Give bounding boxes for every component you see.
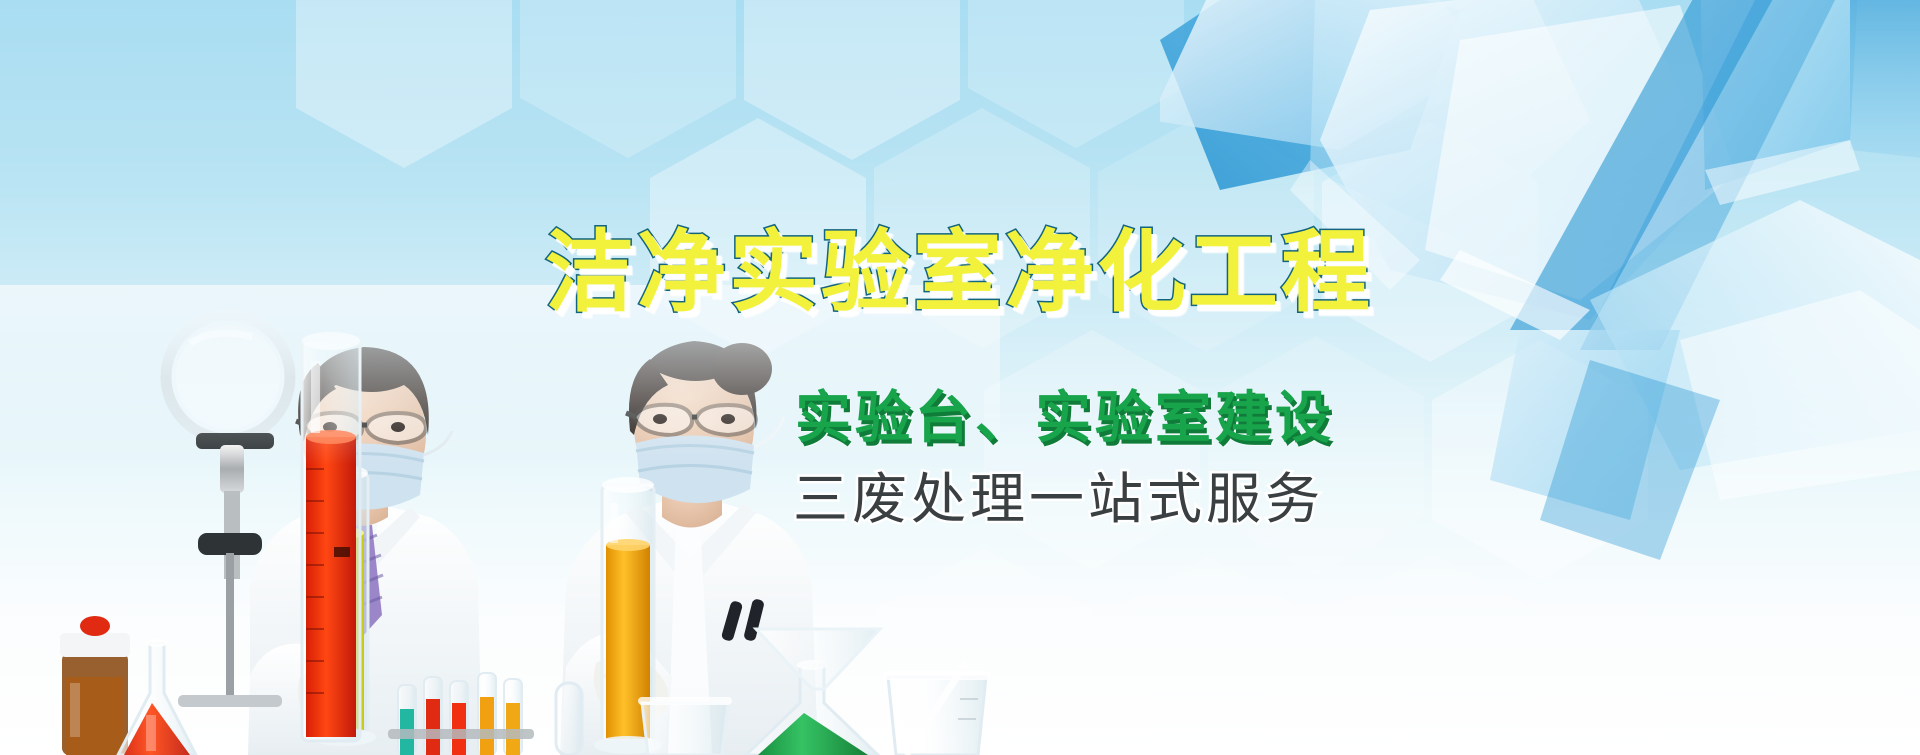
neck	[336, 475, 388, 526]
laboratory-scientists-photo	[0, 285, 1000, 755]
hexagon-shape	[1432, 340, 1648, 580]
hexagon-shape	[744, 0, 960, 160]
crystal-svg	[1160, 0, 1920, 560]
hexagon-shape	[1322, 122, 1538, 362]
crystal-facet	[1590, 200, 1920, 470]
hexagon-shape	[876, 548, 1092, 755]
rack-bar	[388, 729, 534, 739]
crystal-facet	[1580, 0, 1860, 350]
pocket-pens	[721, 600, 744, 642]
stir-rod	[906, 663, 966, 755]
crystal-facet	[1680, 290, 1920, 500]
magnifier-clamp	[196, 433, 274, 449]
stand-base	[178, 695, 282, 707]
crystal-highlight	[1440, 250, 1590, 340]
coat-lapel	[626, 503, 756, 591]
crystal-facet	[1425, 5, 1735, 300]
crystal-facet	[1320, 0, 1720, 320]
hair	[302, 347, 429, 437]
subtitle-waste-treatment: 三废处理一站式服务	[793, 472, 1324, 527]
lab-coat	[250, 499, 482, 755]
crystal-facet	[1700, 0, 1860, 190]
stand-clamp	[198, 533, 262, 555]
amber-reagent-bottle	[60, 616, 130, 755]
eye	[721, 414, 735, 424]
erlenmeyer-flask-red-liquid	[118, 639, 196, 755]
subtitle-services: 实验台、实验室建设	[795, 390, 1335, 446]
test-tube-rack-colored-samples	[388, 673, 534, 755]
safety-goggles	[626, 405, 756, 435]
surgical-mask	[636, 435, 754, 503]
glass-beaker-small	[638, 697, 732, 755]
glass-funnel	[756, 629, 880, 689]
magnifying-glass-on-stand	[166, 315, 290, 707]
banner-copy: 洁净实验室净化工程 实验台、实验室建设 三废处理一站式服务	[0, 0, 1920, 755]
face	[634, 357, 754, 497]
crystal-facet	[1160, 0, 1460, 190]
crystal-highlight	[1705, 140, 1860, 205]
hexagon-shape	[650, 118, 866, 358]
cylinder-base	[594, 736, 662, 754]
purple-striped-tie	[343, 525, 382, 637]
hexagon-shape	[1208, 336, 1424, 576]
graduated-cylinder-red-liquid	[302, 332, 360, 741]
hair	[632, 341, 757, 429]
hexagon-shape	[520, 0, 736, 158]
lab-coat	[560, 493, 818, 755]
crystal-facet	[1510, 0, 1800, 330]
face	[302, 363, 426, 507]
coat-sleeve	[560, 632, 672, 755]
crystal-highlight	[1290, 160, 1420, 290]
erlenmeyer-flask-green-liquid	[746, 629, 880, 755]
coat-lapel	[300, 507, 420, 585]
female-scientist-goggles-mask-white-coat	[560, 341, 818, 755]
hexagon-shape	[968, 0, 1184, 148]
male-scientist-goggles-mask-white-coat	[248, 347, 482, 755]
test-tube-empty	[556, 683, 582, 755]
hexagon-shape	[1098, 112, 1314, 352]
eye	[323, 422, 337, 432]
graduated-cylinder-yellow-liquid	[310, 465, 376, 746]
eye	[391, 422, 405, 432]
bottle-cap	[60, 633, 130, 657]
eye	[653, 414, 667, 424]
photo-svg	[0, 285, 1000, 755]
hexagon-shape	[296, 0, 512, 168]
hair-bun	[712, 343, 772, 395]
coat-sleeve	[248, 644, 352, 755]
hexagon-pattern	[0, 0, 1920, 755]
neck	[662, 467, 722, 528]
laboratory-banner: 洁净实验室净化工程 实验台、实验室建设 三废处理一站式服务	[0, 0, 1920, 755]
crystal-facet	[1160, 0, 1490, 150]
safety-goggles	[296, 413, 426, 443]
stand-rod	[226, 553, 234, 703]
cylinder-graduations	[306, 469, 324, 693]
crystal-polygon-pattern	[1160, 0, 1920, 560]
crystal-facet	[1850, 0, 1920, 160]
page-title: 洁净实验室净化工程	[545, 228, 1373, 317]
crystal-facet	[1540, 360, 1720, 560]
gloved-hand	[298, 671, 366, 732]
pocket-pens	[743, 598, 765, 642]
cylinder-graduations	[322, 561, 336, 681]
gloved-hand	[594, 656, 668, 723]
crystal-facet	[1490, 330, 1680, 520]
crystal-facet	[1310, 0, 1590, 240]
hexagon-shape	[874, 108, 1090, 348]
tie-stripes	[349, 535, 383, 607]
cylinder-base	[310, 728, 376, 746]
graduated-cylinder-amber-liquid	[594, 477, 662, 754]
mask-strap	[424, 431, 452, 455]
mask-strap	[754, 417, 784, 447]
hexagon-shape	[984, 330, 1200, 570]
surgical-mask	[306, 443, 424, 509]
glass-beaker-with-stir-rod	[884, 663, 990, 755]
hexagon-shape	[1100, 556, 1316, 755]
hexagon-shape	[1324, 552, 1540, 755]
dropper-bulb	[80, 616, 110, 636]
